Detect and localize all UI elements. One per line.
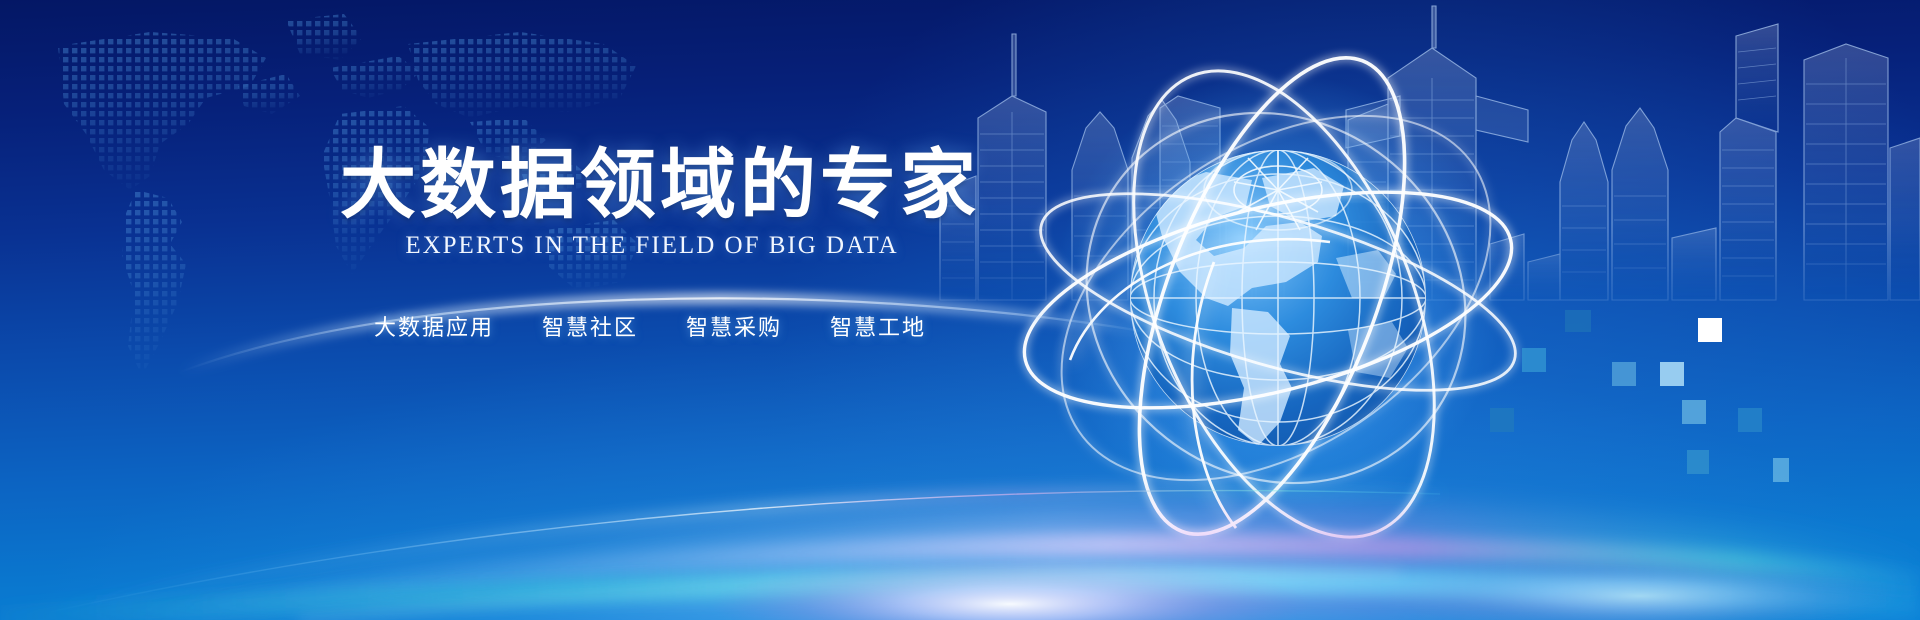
banner-content: 大数据领域的专家 EXPERTS IN THE FIELD OF BIG DAT… [0,0,1000,620]
floating-square [1682,400,1706,424]
floating-square [1565,310,1591,332]
floating-square [1522,348,1546,372]
nav-item-smart-community[interactable]: 智慧社区 [542,310,638,342]
page-subtitle: EXPERTS IN THE FIELD OF BIG DATA [342,232,962,260]
floating-square [1612,362,1636,386]
nav-item-smart-construction-site[interactable]: 智慧工地 [830,310,926,342]
page-title: 大数据领域的专家 [340,148,960,224]
nav-item-big-data-application[interactable]: 大数据应用 [374,310,494,342]
nav-item-smart-procurement[interactable]: 智慧采购 [686,310,782,342]
floating-square [1490,408,1514,432]
floating-squares-icon [1460,300,1920,620]
floating-square [1738,408,1762,432]
floating-square [1773,458,1789,482]
banner-root: 大数据领域的专家 EXPERTS IN THE FIELD OF BIG DAT… [0,0,1920,620]
floating-square [1660,362,1684,386]
floating-square [1698,318,1722,342]
floating-square [1687,450,1709,474]
banner-nav: 大数据应用 智慧社区 智慧采购 智慧工地 [340,310,960,342]
